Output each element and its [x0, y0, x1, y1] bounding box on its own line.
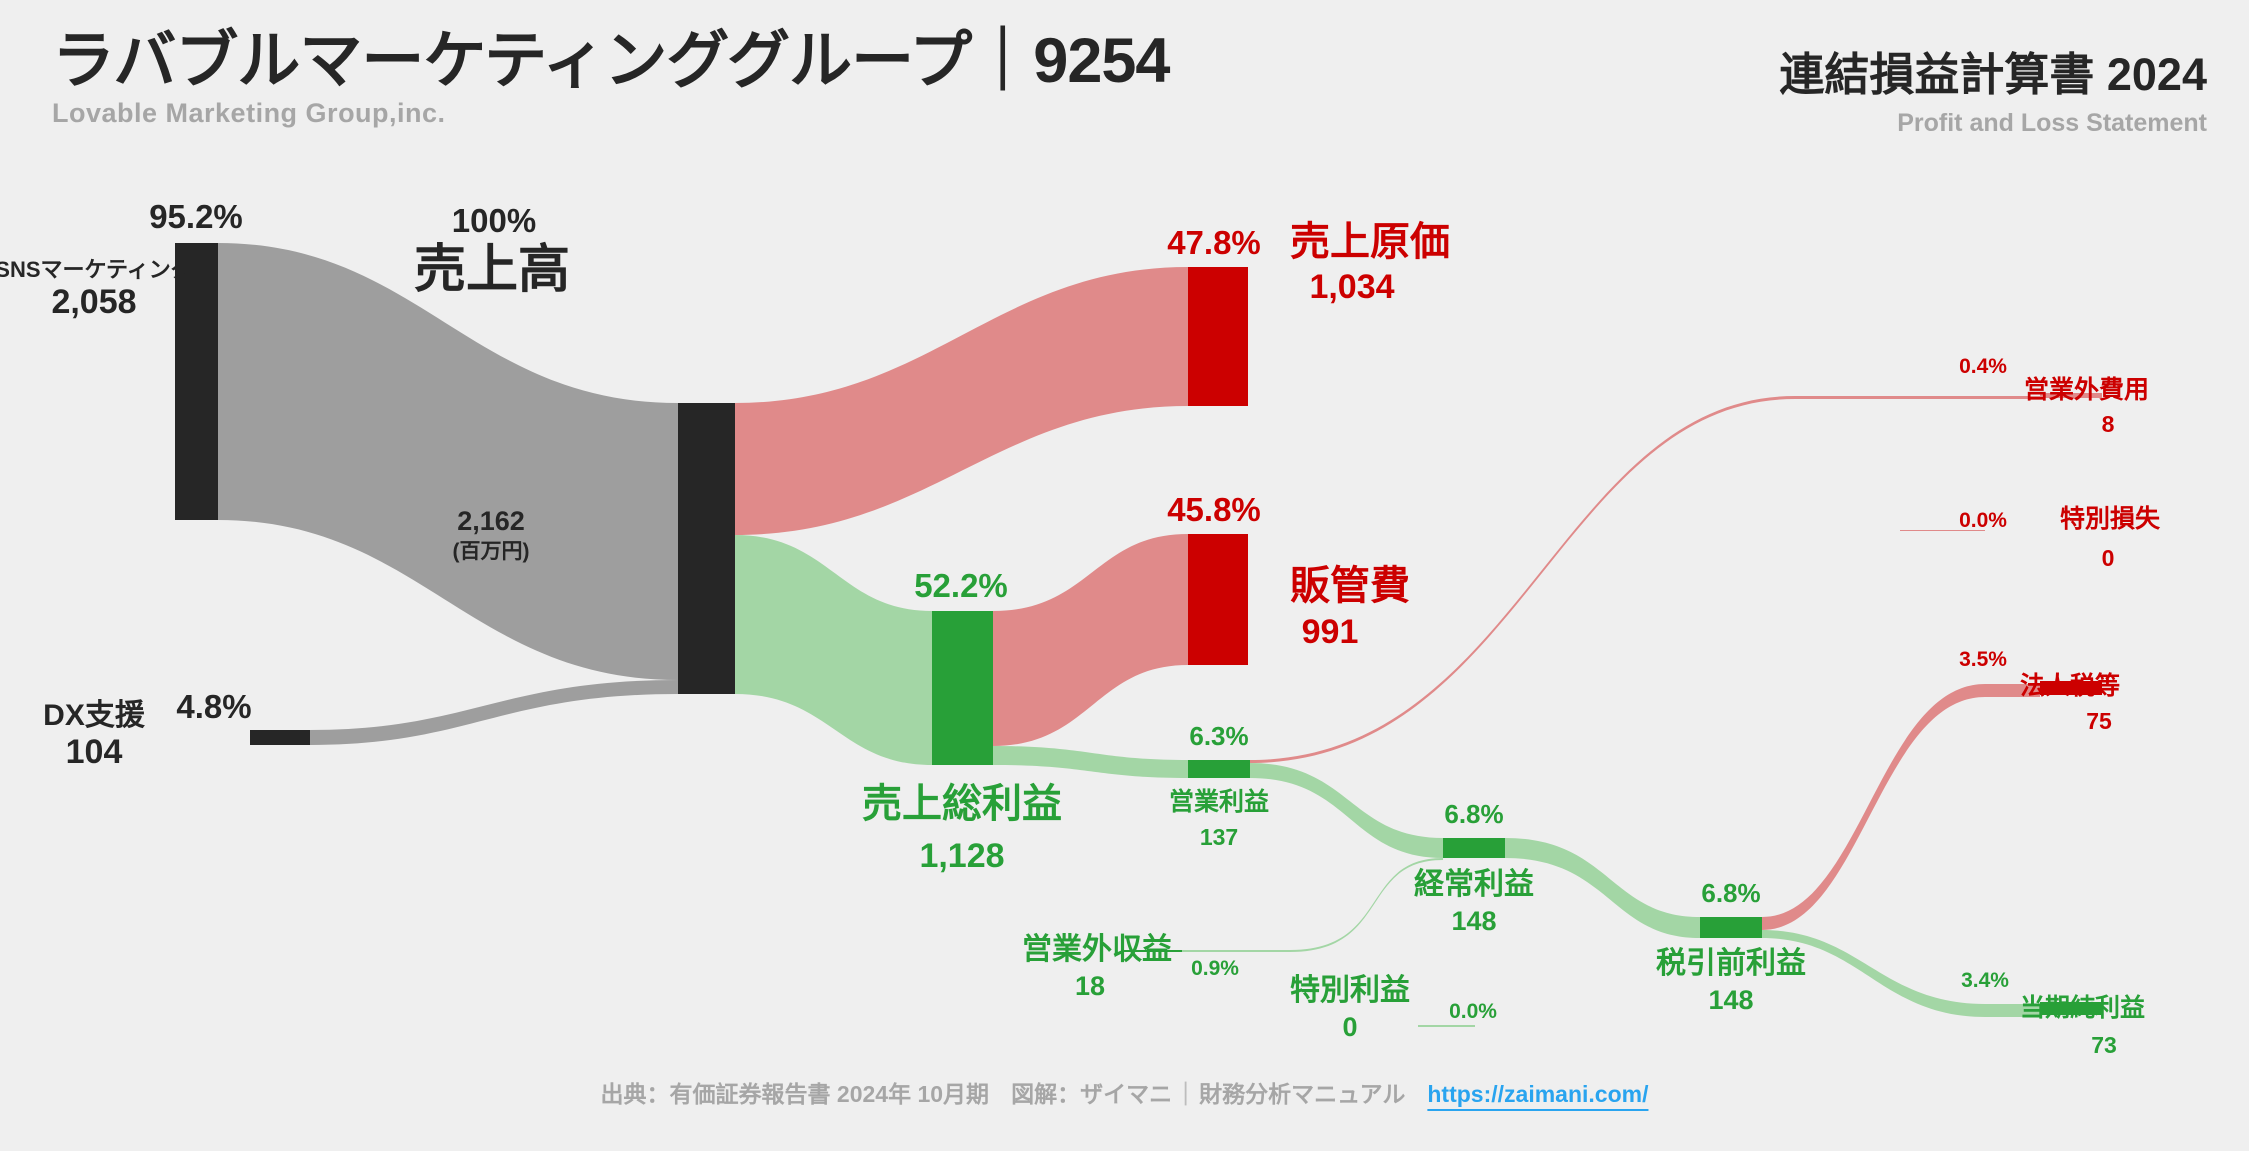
operating-value: 137: [1200, 824, 1238, 850]
link-dx-to-revenue: [310, 680, 678, 745]
nonop-exp-name: 営業外費用: [2024, 375, 2149, 404]
tax-pct: 3.5%: [1959, 648, 2007, 671]
sga-pct: 45.8%: [1167, 491, 1261, 528]
label-dx: 4.8% DX支援 104: [43, 688, 251, 771]
revenue-name: 売上高: [414, 241, 570, 299]
sns-value: 2,058: [51, 283, 136, 321]
node-bar-revenue[interactable]: [678, 403, 735, 694]
extra-gain-pct: 0.0%: [1449, 1000, 1497, 1023]
cogs-pct: 47.8%: [1167, 224, 1261, 261]
link-operating-to-ordinary: [1250, 763, 1443, 858]
revenue-unit-note: (百万円): [453, 540, 530, 563]
dx-pct: 4.8%: [176, 688, 251, 725]
link-pretax-to-tax: [1762, 684, 2040, 930]
extra-gain-value: 0: [1342, 1012, 1357, 1042]
node-bar-ordinary[interactable]: [1443, 838, 1505, 858]
footer-url-link[interactable]: https://zaimani.com/: [1427, 1081, 1648, 1107]
pretax-pct: 6.8%: [1701, 878, 1760, 908]
netincome-value: 73: [2091, 1032, 2117, 1058]
ordinary-value: 148: [1451, 906, 1496, 936]
label-ordinary: 6.8% 経常利益 148: [1414, 799, 1534, 936]
label-extra-loss: 0.0% 特別損失 0: [1959, 505, 2161, 571]
dx-name: DX支援: [43, 699, 146, 732]
footer-divider: ｜: [1172, 1081, 1199, 1107]
extra-loss-value: 0: [2102, 545, 2115, 571]
extra-gain-name: 特別利益: [1290, 974, 1410, 1007]
grossprofit-value: 1,128: [919, 837, 1004, 875]
dx-value: 104: [66, 733, 123, 771]
pretax-name: 税引前利益: [1656, 947, 1806, 980]
footer-source: 出典：有価証券報告書 2024年 10月期: [601, 1081, 990, 1107]
label-extra-gain: 特別利益 0 0.0%: [1290, 974, 1497, 1042]
grossprofit-pct: 52.2%: [914, 567, 1008, 604]
nonop-inc-value: 18: [1075, 971, 1105, 1001]
pretax-value: 148: [1708, 985, 1753, 1015]
sga-name: 販管費: [1290, 564, 1410, 608]
node-bar-sga[interactable]: [1188, 534, 1248, 665]
ordinary-name: 経常利益: [1414, 867, 1534, 901]
revenue-pct: 100%: [452, 202, 536, 239]
sga-value: 991: [1302, 613, 1359, 651]
ordinary-pct: 6.8%: [1444, 799, 1503, 829]
link-sns-to-revenue: [218, 243, 678, 680]
cogs-name: 売上原価: [1290, 220, 1450, 264]
link-revenue-to-cogs: [735, 267, 1188, 535]
nonop-inc-pct: 0.9%: [1191, 957, 1239, 980]
link-revenue-to-grossprofit: [735, 535, 932, 765]
extra-loss-name: 特別損失: [2060, 505, 2161, 533]
sns-name: SNSマーケティング: [0, 257, 193, 282]
extra-loss-pct: 0.0%: [1959, 509, 2007, 532]
node-bar-pretax[interactable]: [1700, 917, 1762, 938]
link-extra-gain-stub: [1418, 1025, 1475, 1027]
netincome-name: 当期純利益: [2020, 993, 2145, 1022]
cogs-value: 1,034: [1309, 268, 1394, 306]
nonop-inc-name: 営業外収益: [1022, 933, 1172, 966]
operating-name: 営業利益: [1169, 788, 1269, 816]
node-bar-operating[interactable]: [1188, 760, 1250, 778]
sankey-links: [218, 243, 2040, 1027]
node-bar-cogs[interactable]: [1188, 267, 1248, 406]
grossprofit-name: 売上総利益: [862, 782, 1062, 826]
netincome-pct: 3.4%: [1961, 969, 2009, 992]
link-grossprofit-to-sga: [993, 534, 1188, 746]
revenue-value: 2,162: [457, 506, 525, 536]
operating-pct: 6.3%: [1189, 721, 1248, 751]
tax-name: 法人税等: [2020, 671, 2120, 700]
label-nonop-inc: 営業外収益 18 0.9%: [1022, 933, 1239, 1001]
link-ordinary-to-pretax: [1505, 838, 1700, 938]
nonop-exp-pct: 0.4%: [1959, 355, 2007, 378]
footer-credit: 図解：ザイマニ: [1011, 1081, 1172, 1107]
footer: 出典：有価証券報告書 2024年 10月期図解：ザイマニ｜財務分析マニュアルht…: [0, 1075, 2249, 1109]
footer-manual: 財務分析マニュアル: [1199, 1081, 1405, 1107]
link-nonop-inc-to-ordinary: [1182, 858, 1443, 952]
sns-pct: 95.2%: [149, 198, 243, 235]
link-grossprofit-to-operating: [993, 746, 1188, 778]
tax-value: 75: [2086, 708, 2112, 734]
node-bar-grossprofit[interactable]: [932, 611, 993, 765]
node-bar-dx[interactable]: [250, 730, 310, 745]
label-operating: 6.3% 営業利益 137: [1169, 721, 1269, 850]
label-pretax: 6.8% 税引前利益 148: [1656, 878, 1806, 1015]
sankey-diagram: 95.2% SNSマーケティング 2,058 4.8% DX支援 104 100…: [0, 0, 2249, 1151]
nonop-exp-value: 8: [2102, 411, 2115, 437]
node-bar-sns[interactable]: [175, 243, 218, 520]
